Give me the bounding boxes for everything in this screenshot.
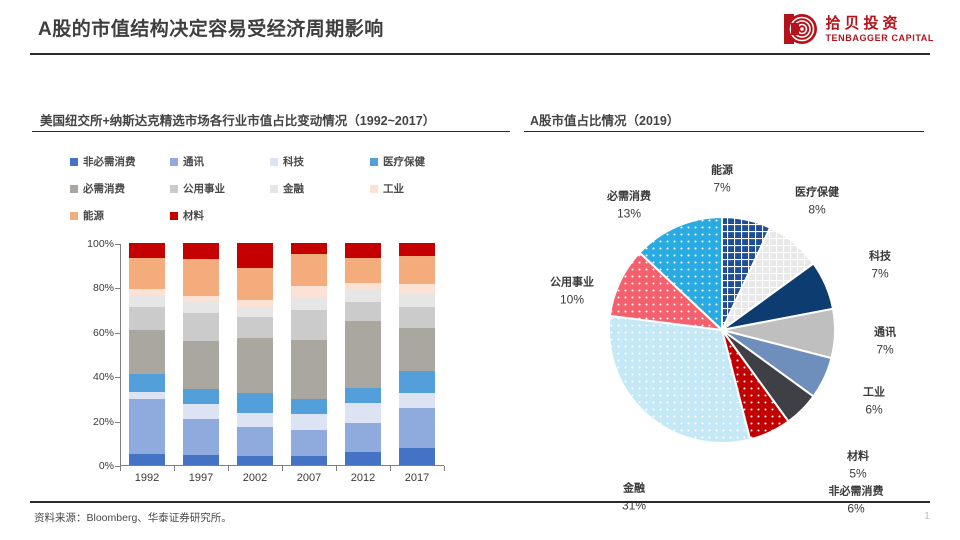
- bar-segment: [345, 258, 381, 283]
- bar-segment: [399, 284, 435, 293]
- pie-svg: [524, 140, 944, 485]
- bar-segment: [183, 313, 219, 341]
- bar-segment: [345, 243, 381, 257]
- pie-slice-label: 科技7%: [869, 249, 891, 282]
- bar-segment: [399, 393, 435, 408]
- pie-slice-percent: 5%: [847, 465, 869, 482]
- bar-segment: [237, 393, 273, 413]
- bar-segment: [237, 456, 273, 465]
- bar-segment: [237, 300, 273, 307]
- bar-column[interactable]: [399, 243, 435, 465]
- legend-item-label: 能源: [83, 208, 104, 223]
- pie-slice-percent: 10%: [550, 291, 594, 308]
- bar-column[interactable]: [129, 243, 165, 465]
- legend-item[interactable]: 非必需消费: [70, 148, 170, 175]
- bar-segment: [129, 454, 165, 465]
- company-logo: 拾贝投资 TENBAGGER CAPITAL: [782, 10, 934, 48]
- pie-slice-percent: 7%: [711, 179, 733, 196]
- legend-item-label: 通讯: [183, 154, 204, 169]
- pie-slice-percent: 7%: [874, 341, 896, 358]
- bar-segment: [183, 259, 219, 296]
- x-axis-tick: [444, 466, 445, 471]
- bar-plot-area: 0%20%40%60%80%100%1992199720022007201220…: [120, 244, 444, 466]
- bar-segment: [129, 392, 165, 400]
- legend-item-label: 工业: [383, 181, 404, 196]
- bar-segment: [345, 423, 381, 452]
- bar-segment: [291, 340, 327, 399]
- pie-slice-percent: 8%: [795, 201, 839, 218]
- legend-item-label: 材料: [183, 208, 204, 223]
- x-axis-tick: [228, 466, 229, 471]
- logo-text: 拾贝投资 TENBAGGER CAPITAL: [825, 16, 934, 43]
- pie-slice-percent: 6%: [829, 500, 884, 517]
- pie-slice-percent: 7%: [869, 265, 891, 282]
- legend-item-label: 金融: [283, 181, 304, 196]
- legend-item-label: 必需消费: [83, 181, 125, 196]
- pie-slice-label: 材料5%: [847, 449, 869, 482]
- bar-segment: [399, 256, 435, 284]
- bar-segment: [183, 455, 219, 465]
- x-axis-tick: [390, 466, 391, 471]
- x-axis-label: 2012: [333, 472, 393, 484]
- logo-name-en: TENBAGGER CAPITAL: [825, 34, 934, 43]
- bar-segment: [237, 243, 273, 268]
- bar-column[interactable]: [183, 243, 219, 465]
- legend-item[interactable]: 通讯: [170, 148, 270, 175]
- pie-slice-label: 能源7%: [711, 163, 733, 196]
- legend-swatch-icon: [70, 158, 78, 166]
- slide: A股的市值结构决定容易受经济周期影响 拾贝投资 TENBAGGER CAPITA…: [0, 0, 960, 540]
- pie-slice-percent: 6%: [863, 401, 885, 418]
- x-axis-label: 2002: [225, 472, 285, 484]
- bar-segment: [129, 330, 165, 374]
- bar-segment: [291, 286, 327, 297]
- left-title-divider: [32, 131, 510, 132]
- bar-segment: [399, 293, 435, 306]
- bar-segment: [183, 302, 219, 314]
- bar-column[interactable]: [237, 243, 273, 465]
- legend-item-label: 科技: [283, 154, 304, 169]
- x-axis-tick: [120, 466, 121, 471]
- bar-segment: [237, 413, 273, 427]
- x-axis-label: 1992: [117, 472, 177, 484]
- y-axis-tick: [115, 244, 120, 245]
- y-axis-line: [120, 244, 121, 466]
- bar-segment: [345, 302, 381, 321]
- bar-segment: [345, 289, 381, 303]
- page-number: 1: [924, 510, 930, 522]
- bar-segment: [183, 341, 219, 389]
- x-axis-tick: [336, 466, 337, 471]
- x-axis-label: 2007: [279, 472, 339, 484]
- bar-segment: [237, 427, 273, 457]
- pie-slice-name: 公用事业: [550, 276, 594, 288]
- pie-slice-name: 通讯: [874, 326, 896, 338]
- bar-segment: [345, 452, 381, 465]
- legend-swatch-icon: [370, 185, 378, 193]
- right-title-divider: [524, 131, 924, 132]
- slide-header: A股的市值结构决定容易受经济周期影响 拾贝投资 TENBAGGER CAPITA…: [0, 0, 960, 56]
- y-axis-label: 20%: [76, 416, 114, 428]
- legend-swatch-icon: [170, 158, 178, 166]
- legend-item-label: 公用事业: [183, 181, 225, 196]
- legend-swatch-icon: [70, 212, 78, 220]
- legend-swatch-icon: [170, 185, 178, 193]
- y-axis-tick: [115, 422, 120, 423]
- bar-segment: [237, 307, 273, 317]
- bar-segment: [129, 258, 165, 289]
- legend-item[interactable]: 科技: [270, 148, 370, 175]
- bar-segment: [291, 254, 327, 286]
- pie-slice-percent: 13%: [607, 205, 651, 222]
- pie-slice-name: 必需消费: [607, 190, 651, 202]
- bar-segment: [399, 328, 435, 371]
- bar-segment: [129, 399, 165, 454]
- logo-name-cn: 拾贝投资: [825, 16, 934, 31]
- bar-segment: [237, 317, 273, 337]
- bar-segment: [183, 389, 219, 404]
- bar-segment: [399, 243, 435, 256]
- legend-item[interactable]: 必需消费: [70, 175, 170, 202]
- bar-segment: [291, 399, 327, 414]
- bar-segment: [399, 408, 435, 448]
- legend-swatch-icon: [370, 158, 378, 166]
- x-axis-label: 1997: [171, 472, 231, 484]
- bar-segment: [129, 307, 165, 329]
- stacked-bar-chart: 0%20%40%60%80%100%1992199720022007201220…: [62, 238, 454, 468]
- bar-segment: [399, 307, 435, 328]
- x-axis-tick: [282, 466, 283, 471]
- bar-segment: [399, 371, 435, 393]
- legend-swatch-icon: [170, 212, 178, 220]
- pie-slice-label: 必需消费13%: [607, 189, 651, 222]
- legend-item-label: 非必需消费: [83, 154, 136, 169]
- bar-chart-legend: 非必需消费通讯科技医疗保健必需消费公用事业金融工业能源材料: [70, 148, 470, 229]
- pie-slice-name: 能源: [711, 164, 733, 176]
- legend-item[interactable]: 金融: [270, 175, 370, 202]
- bar-segment: [399, 448, 435, 465]
- source-note: 资料来源：Bloomberg、华泰证券研究所。: [34, 510, 232, 525]
- bar-segment: [183, 404, 219, 419]
- page-title: A股的市值结构决定容易受经济周期影响: [38, 14, 384, 41]
- legend-item[interactable]: 工业: [370, 175, 470, 202]
- bar-segment: [129, 289, 165, 296]
- pie-slice-name: 金融: [623, 482, 645, 494]
- bar-segment: [291, 297, 327, 310]
- spiral-target-icon: [782, 12, 818, 46]
- pie-slice-label: 工业6%: [863, 385, 885, 418]
- y-axis-label: 0%: [76, 460, 114, 472]
- bar-segment: [345, 403, 381, 423]
- pie-slice-name: 非必需消费: [829, 485, 884, 497]
- pie-slice-label: 通讯7%: [874, 325, 896, 358]
- pie-slice-name: 科技: [869, 250, 891, 262]
- footer-divider: [30, 501, 930, 503]
- pie-slice-label: 金融31%: [622, 481, 646, 514]
- bar-segment: [345, 321, 381, 388]
- y-axis-tick: [115, 333, 120, 334]
- bar-segment: [129, 296, 165, 308]
- legend-swatch-icon: [70, 185, 78, 193]
- legend-swatch-icon: [270, 185, 278, 193]
- y-axis-label: 40%: [76, 371, 114, 383]
- bar-segment: [237, 268, 273, 300]
- y-axis-label: 100%: [76, 238, 114, 250]
- pie-slice-percent: 31%: [622, 497, 646, 514]
- bar-segment: [291, 430, 327, 456]
- x-axis-tick: [174, 466, 175, 471]
- bar-segment: [237, 338, 273, 393]
- left-chart-title: 美国纽交所+纳斯达克精选市场各行业市值占比变动情况（1992~2017）: [40, 110, 435, 129]
- pie-slice-name: 医疗保健: [795, 186, 839, 198]
- header-divider: [30, 53, 930, 55]
- legend-item[interactable]: 公用事业: [170, 175, 270, 202]
- bar-column[interactable]: [291, 243, 327, 465]
- y-axis-label: 60%: [76, 327, 114, 339]
- bar-segment: [291, 243, 327, 254]
- bar-segment: [345, 388, 381, 402]
- y-axis-tick: [115, 288, 120, 289]
- x-axis-label: 2017: [387, 472, 447, 484]
- bar-segment: [129, 243, 165, 258]
- legend-swatch-icon: [270, 158, 278, 166]
- bar-segment: [129, 374, 165, 392]
- bar-segment: [183, 243, 219, 259]
- legend-item[interactable]: 能源: [70, 202, 170, 229]
- legend-item-label: 医疗保健: [383, 154, 425, 169]
- pie-chart: 能源7%医疗保健8%科技7%通讯7%工业6%材料5%非必需消费6%金融31%公用…: [524, 140, 944, 485]
- legend-item[interactable]: 医疗保健: [370, 148, 470, 175]
- bar-column[interactable]: [345, 243, 381, 465]
- pie-slice-label: 公用事业10%: [550, 275, 594, 308]
- bar-segment: [291, 414, 327, 430]
- bar-segment: [291, 456, 327, 465]
- y-axis-label: 80%: [76, 282, 114, 294]
- pie-slice-label: 医疗保健8%: [795, 185, 839, 218]
- right-chart-title: A股市值占比情况（2019）: [530, 110, 679, 129]
- bar-segment: [291, 310, 327, 340]
- pie-slice-name: 工业: [863, 386, 885, 398]
- legend-item[interactable]: 材料: [170, 202, 270, 229]
- y-axis-tick: [115, 377, 120, 378]
- pie-slice-name: 材料: [847, 450, 869, 462]
- bar-segment: [183, 419, 219, 455]
